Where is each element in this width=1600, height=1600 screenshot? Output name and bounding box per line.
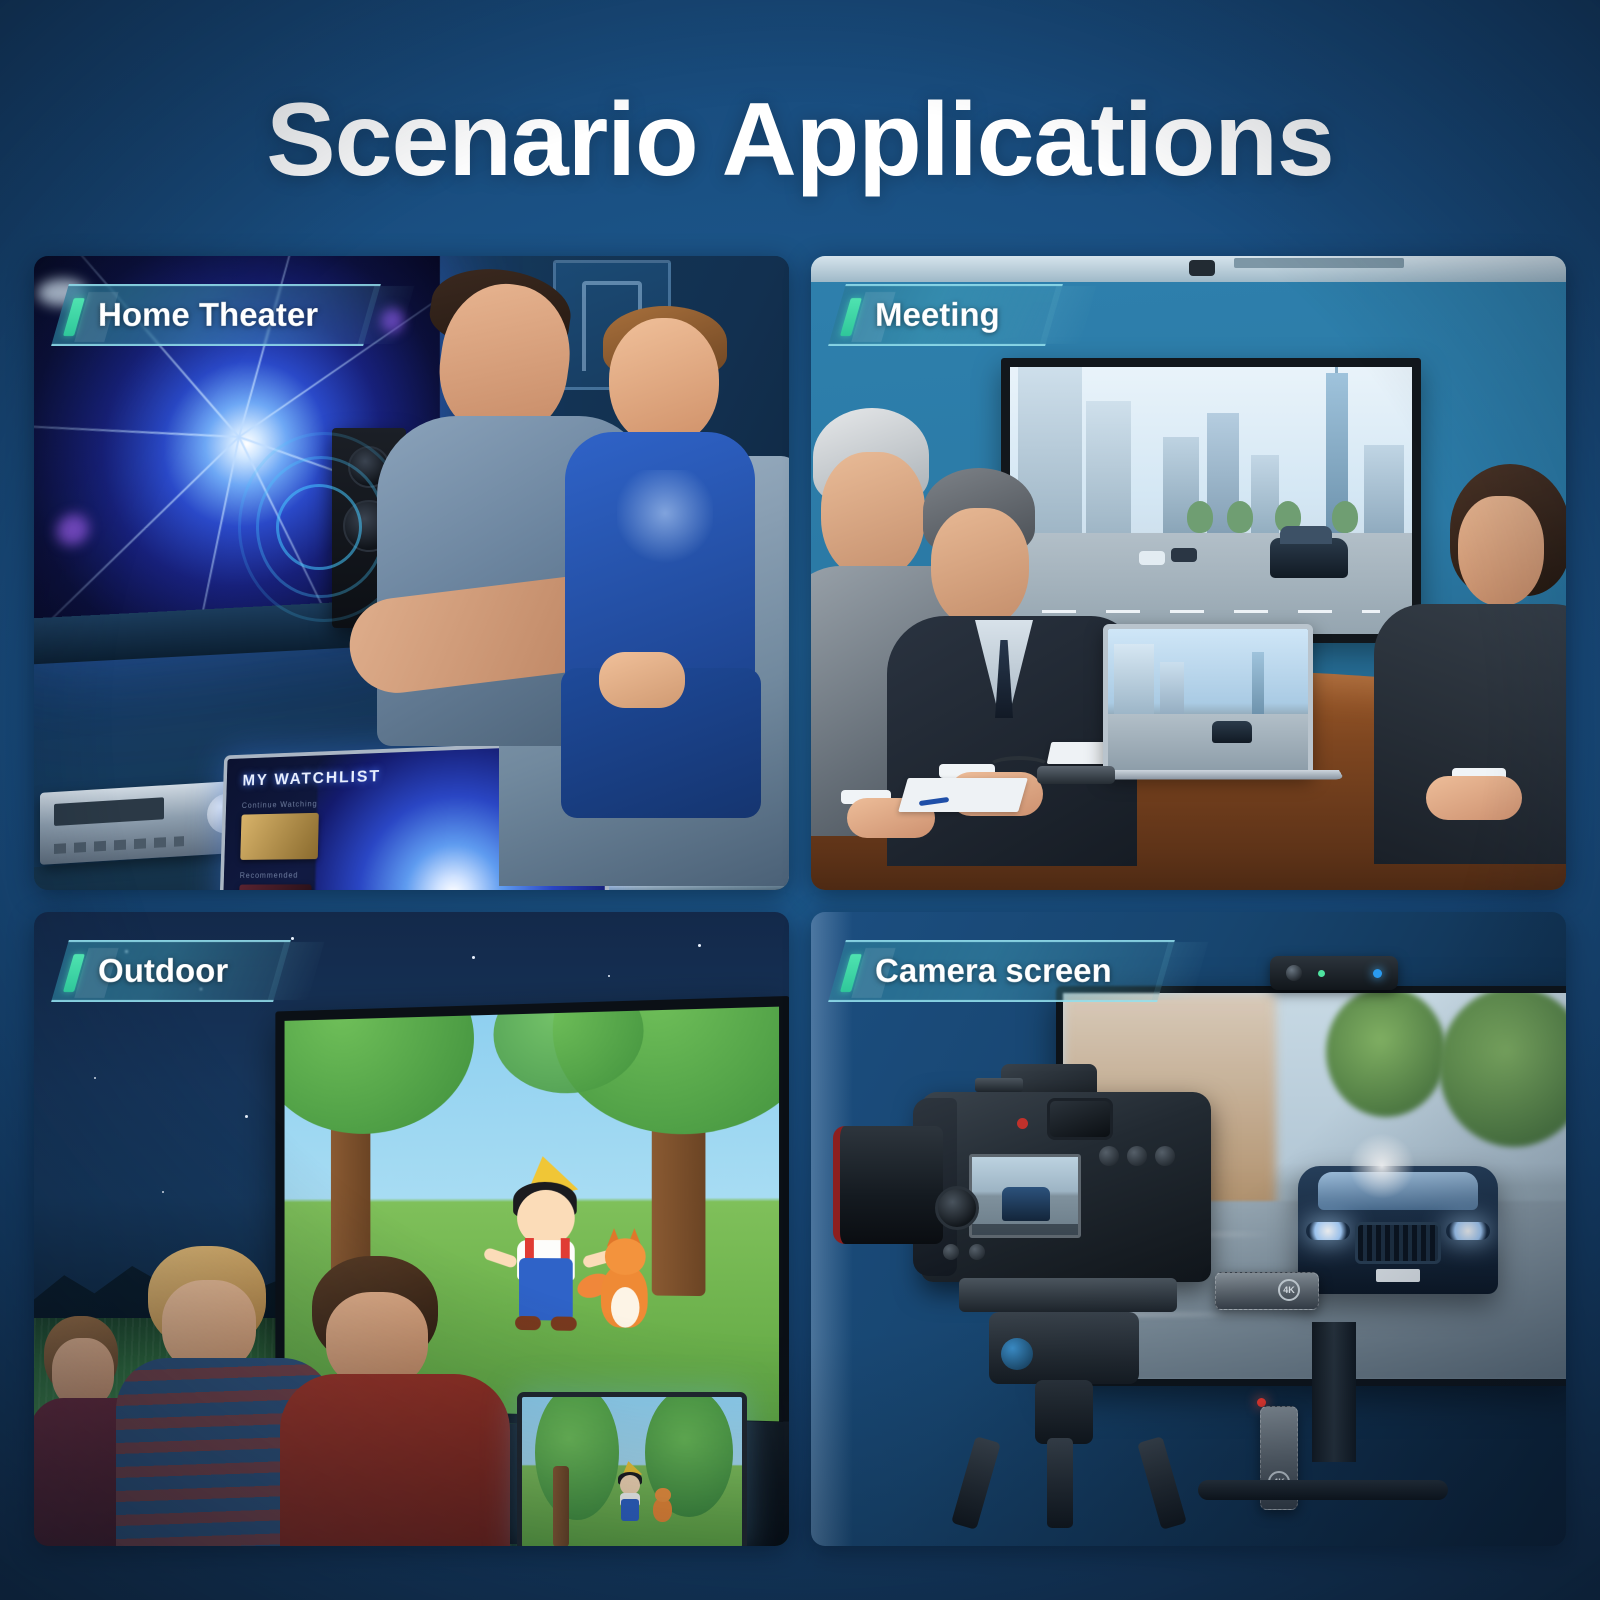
ceiling-camera-icon — [1189, 260, 1215, 276]
webcam-lens-icon — [1286, 965, 1302, 981]
badge-tail — [1039, 286, 1096, 344]
cartoon-squirrel — [593, 1234, 656, 1332]
screen-car — [1171, 548, 1197, 562]
cartoon-boy — [503, 1166, 595, 1336]
webcam-status-led — [1318, 970, 1325, 977]
laptop-outdoor[interactable] — [517, 1392, 747, 1546]
camera-lens-icon — [833, 1126, 943, 1244]
laptop-screen — [1103, 624, 1313, 776]
child-head — [609, 318, 719, 446]
monitor-stand-neck — [1312, 1322, 1356, 1462]
cable-icon — [987, 756, 1051, 778]
child-viewer — [286, 1256, 506, 1546]
scenario-grid: MY WATCHLIST Continue Watching Recommend… — [34, 256, 1566, 1546]
panel-badge-camera-screen: Camera screen — [828, 940, 1174, 1002]
mode-dial[interactable] — [935, 1186, 979, 1230]
panel-camera-screen[interactable]: 4K — [811, 912, 1566, 1546]
watchlist-thumb[interactable] — [240, 813, 319, 860]
panel-badge-outdoor: Outdoor — [51, 940, 291, 1002]
panel-home-theater[interactable]: MY WATCHLIST Continue Watching Recommend… — [34, 256, 789, 890]
panel-label: Outdoor — [98, 952, 228, 990]
tripod-pan-knob[interactable] — [1001, 1338, 1033, 1370]
laptop-screen — [517, 1392, 747, 1546]
webcam-power-led — [1373, 969, 1382, 978]
notepad — [898, 778, 1028, 812]
lens-flare — [1347, 1131, 1417, 1201]
page-title: Scenario Applications — [0, 88, 1600, 192]
webcam-device — [1270, 956, 1398, 990]
record-button[interactable] — [1017, 1118, 1028, 1129]
badge-tail — [268, 942, 325, 1000]
folded-hands — [1426, 776, 1522, 820]
panel-badge-meeting: Meeting — [828, 284, 1062, 346]
panel-outdoor[interactable]: Outdoor — [34, 912, 789, 1546]
child-shirt-graphic — [617, 470, 713, 566]
resolution-badge: 4K — [1278, 1279, 1300, 1301]
screen-car — [1139, 551, 1165, 565]
panel-meeting[interactable]: Meeting — [811, 256, 1566, 890]
watchlist-section-label: Recommended — [240, 871, 299, 880]
viewfinder-icon — [1047, 1098, 1113, 1140]
panel-badge-home-theater: Home Theater — [51, 284, 381, 346]
child-hands — [599, 652, 685, 708]
screen-main-car — [1270, 538, 1348, 578]
tripod-head — [943, 1278, 1193, 1508]
watchlist-thumb[interactable] — [238, 884, 312, 890]
hotshoe — [975, 1078, 1023, 1092]
laptop-meeting[interactable] — [1103, 624, 1313, 776]
watchlist-section-label: Continue Watching — [242, 799, 318, 810]
panel-label: Camera screen — [875, 952, 1112, 990]
panel-label: Meeting — [875, 296, 1000, 334]
capture-dongle-camera: 4K — [1215, 1272, 1319, 1310]
panel-label: Home Theater — [98, 296, 318, 334]
viewers-group — [359, 256, 789, 890]
scenario-applications-page: Scenario Applications — [0, 0, 1600, 1600]
camera-lcd-screen — [969, 1154, 1081, 1238]
